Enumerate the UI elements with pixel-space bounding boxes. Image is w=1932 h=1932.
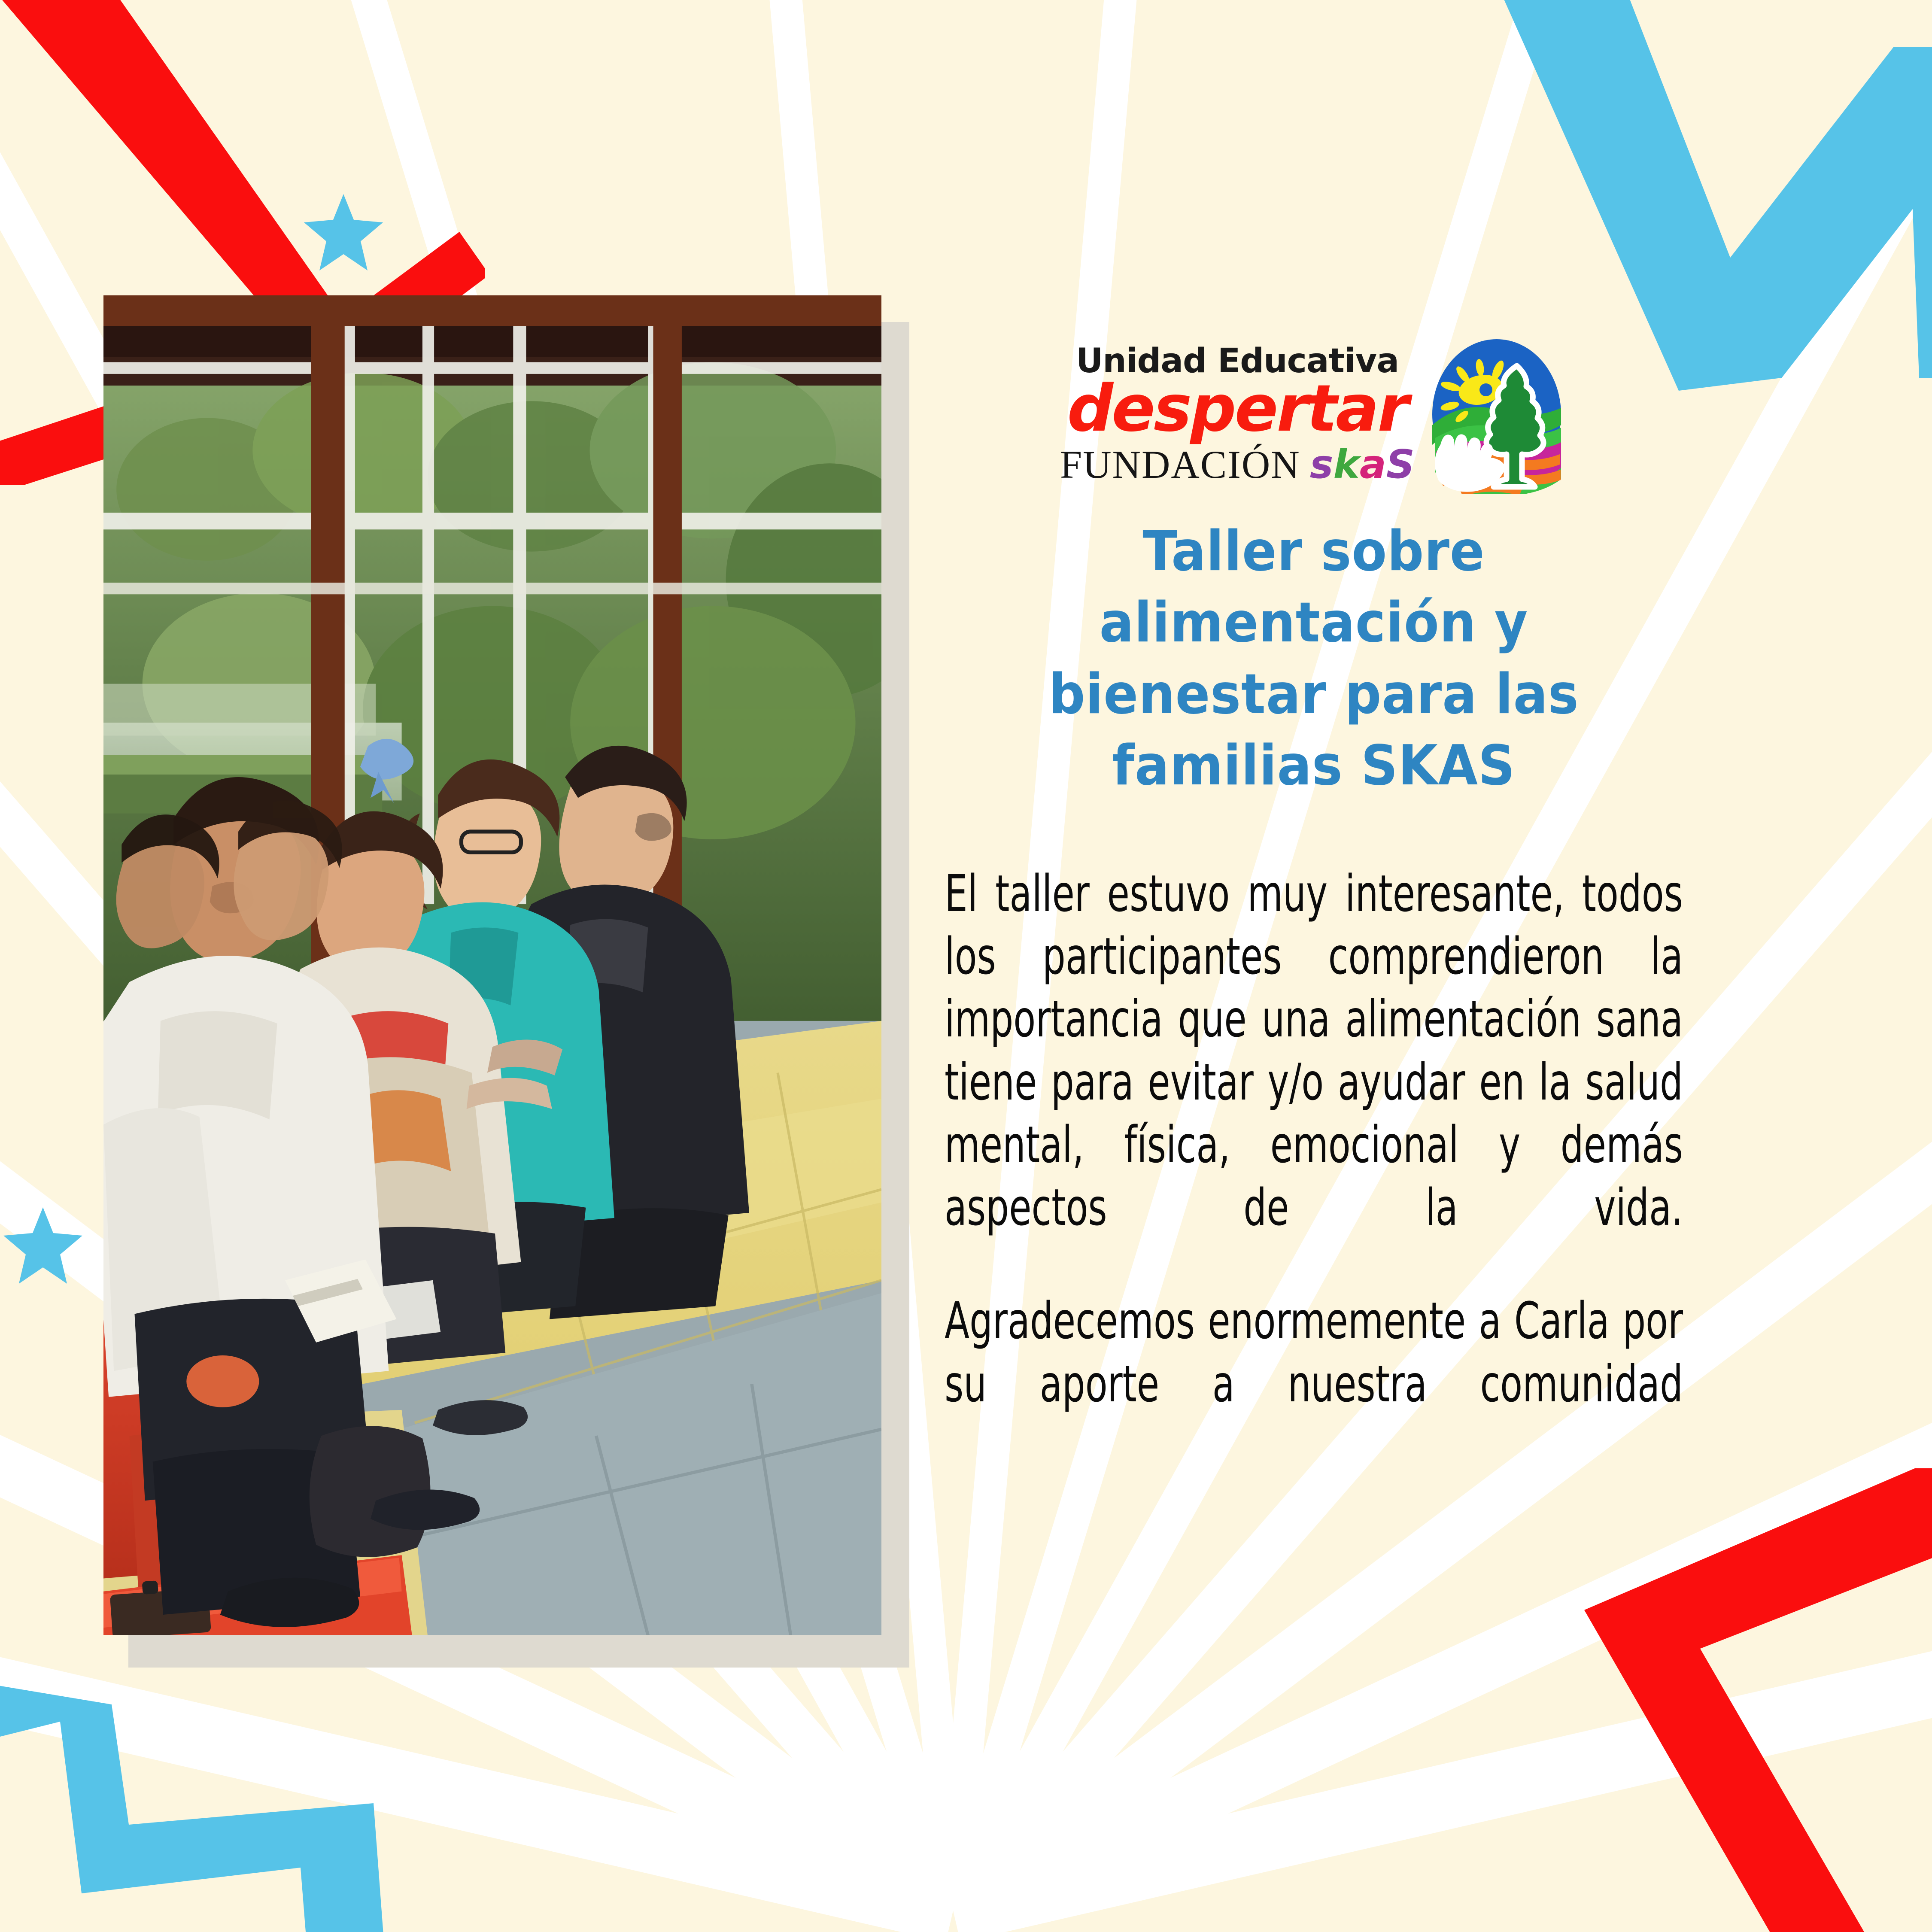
decorative-star-left-icon (0, 1202, 86, 1288)
logo-skas-text: skaS (1310, 445, 1415, 484)
title-line-2: bienestar para las familias SKAS (1048, 662, 1579, 798)
poster-canvas: Unidad Educativa despertar FUNDACIÓN ska… (0, 0, 1932, 1932)
decoration-bottom-right-red-zigzag (1425, 1468, 1932, 1932)
skas-emblem-icon (1426, 335, 1567, 494)
organization-logo: Unidad Educativa despertar FUNDACIÓN ska… (945, 335, 1683, 494)
page-title: Taller sobre alimentación ybienestar par… (970, 516, 1657, 802)
body-paragraph-2: Agradecemos enormemente a Carla por su a… (945, 1289, 1683, 1415)
decorative-star-top-icon (301, 189, 386, 275)
body-paragraph-1: El taller estuvo muy interesante, todos … (945, 862, 1683, 1239)
logo-fundacion-text: FUNDACIÓN (1060, 445, 1300, 484)
workshop-photo (103, 295, 881, 1635)
content-column: Unidad Educativa despertar FUNDACIÓN ska… (945, 335, 1683, 1466)
logo-line-despertar: despertar (1067, 375, 1407, 443)
logo-line-fundacion-skas: FUNDACIÓN skaS (1060, 445, 1415, 484)
logo-wordmark: Unidad Educativa despertar FUNDACIÓN ska… (1060, 344, 1415, 484)
title-line-1: Taller sobre alimentación y (1100, 519, 1528, 655)
